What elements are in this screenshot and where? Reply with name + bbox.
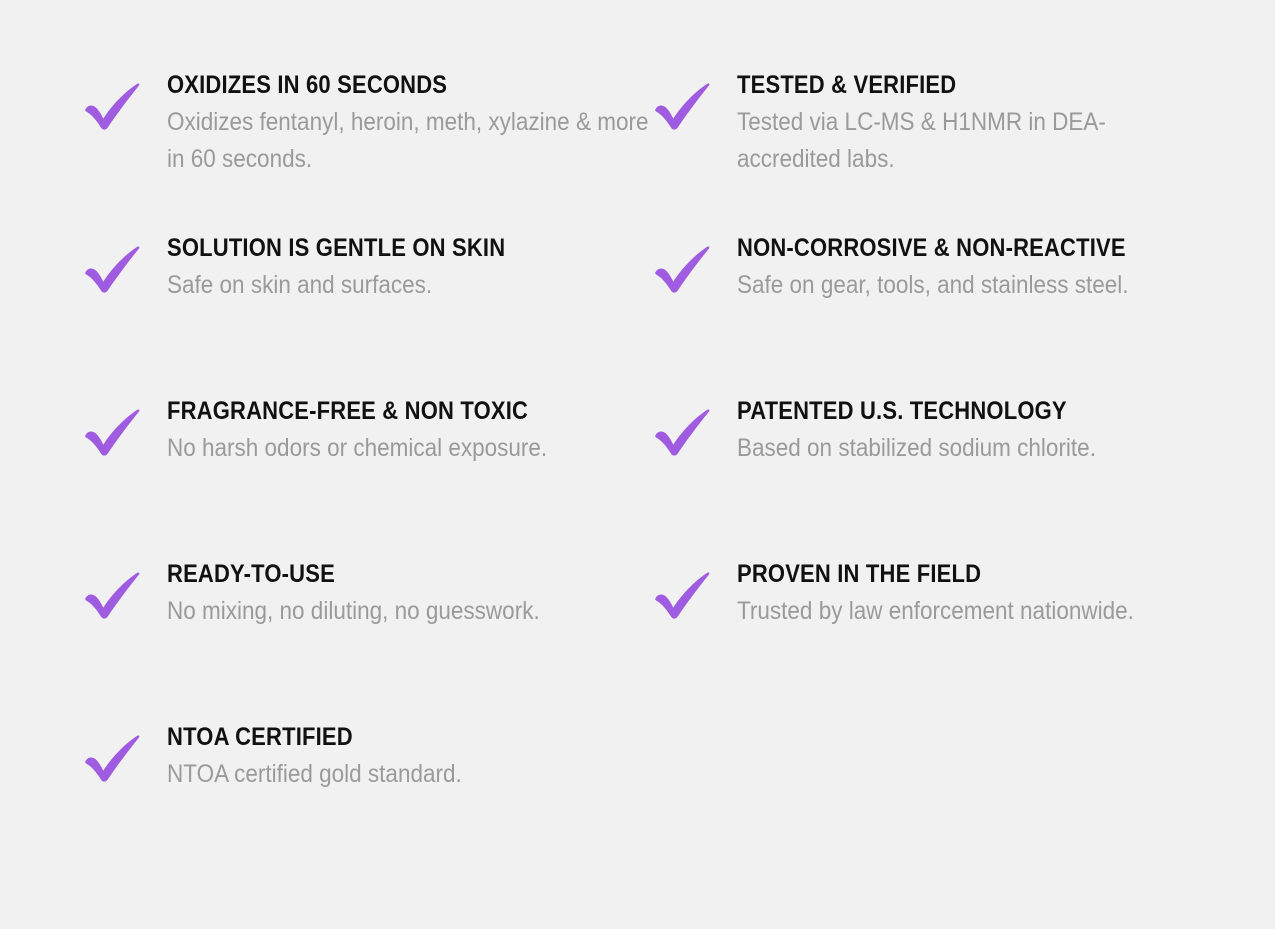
benefits-grid: OXIDIZES IN 60 SECONDS Oxidizes fentanyl…	[0, 0, 1275, 929]
benefit-title: TESTED & VERIFIED	[737, 70, 1144, 100]
benefit-item: SOLUTION IS GENTLE ON SKIN Safe on skin …	[84, 233, 654, 396]
checkmark-icon	[84, 233, 167, 293]
benefit-text: NTOA CERTIFIED NTOA certified gold stand…	[167, 722, 654, 793]
benefit-item: READY-TO-USE No mixing, no diluting, no …	[84, 559, 654, 722]
checkmark-icon	[84, 396, 167, 456]
benefit-item: TESTED & VERIFIED Tested via LC-MS & H1N…	[654, 70, 1199, 233]
benefit-text: TESTED & VERIFIED Tested via LC-MS & H1N…	[737, 70, 1199, 178]
benefit-description: Oxidizes fentanyl, heroin, meth, xylazin…	[167, 104, 654, 178]
benefit-text: PROVEN IN THE FIELD Trusted by law enfor…	[737, 559, 1199, 630]
benefit-item: PATENTED U.S. TECHNOLOGY Based on stabil…	[654, 396, 1199, 559]
benefit-text: FRAGRANCE-FREE & NON TOXIC No harsh odor…	[167, 396, 654, 467]
benefit-title: SOLUTION IS GENTLE ON SKIN	[167, 233, 596, 263]
benefit-item: NON-CORROSIVE & NON-REACTIVE Safe on gea…	[654, 233, 1199, 396]
benefit-item: NTOA CERTIFIED NTOA certified gold stand…	[84, 722, 654, 885]
checkmark-icon	[654, 559, 737, 619]
checkmark-icon	[84, 70, 167, 130]
benefit-item: OXIDIZES IN 60 SECONDS Oxidizes fentanyl…	[84, 70, 654, 233]
benefit-description: NTOA certified gold standard.	[167, 756, 654, 793]
checkmark-icon	[654, 233, 737, 293]
benefit-text: SOLUTION IS GENTLE ON SKIN Safe on skin …	[167, 233, 654, 304]
benefit-description: Safe on gear, tools, and stainless steel…	[737, 267, 1199, 304]
benefit-title: FRAGRANCE-FREE & NON TOXIC	[167, 396, 596, 426]
benefit-text: OXIDIZES IN 60 SECONDS Oxidizes fentanyl…	[167, 70, 654, 178]
benefit-title: NTOA CERTIFIED	[167, 722, 596, 752]
benefit-title: READY-TO-USE	[167, 559, 596, 589]
benefit-item: FRAGRANCE-FREE & NON TOXIC No harsh odor…	[84, 396, 654, 559]
benefit-title: OXIDIZES IN 60 SECONDS	[167, 70, 596, 100]
benefit-description: No mixing, no diluting, no guesswork.	[167, 593, 654, 630]
benefit-item: PROVEN IN THE FIELD Trusted by law enfor…	[654, 559, 1199, 722]
benefit-title: PROVEN IN THE FIELD	[737, 559, 1144, 589]
checkmark-icon	[654, 70, 737, 130]
benefit-description: Trusted by law enforcement nationwide.	[737, 593, 1199, 630]
benefit-description: Based on stabilized sodium chlorite.	[737, 430, 1199, 467]
benefit-text: PATENTED U.S. TECHNOLOGY Based on stabil…	[737, 396, 1199, 467]
checkmark-icon	[84, 559, 167, 619]
checkmark-icon	[84, 722, 167, 782]
benefit-text: READY-TO-USE No mixing, no diluting, no …	[167, 559, 654, 630]
benefit-text: NON-CORROSIVE & NON-REACTIVE Safe on gea…	[737, 233, 1199, 304]
benefit-description: Tested via LC-MS & H1NMR in DEA-accredit…	[737, 104, 1199, 178]
benefit-description: Safe on skin and surfaces.	[167, 267, 654, 304]
benefit-title: NON-CORROSIVE & NON-REACTIVE	[737, 233, 1144, 263]
benefit-description: No harsh odors or chemical exposure.	[167, 430, 654, 467]
benefit-title: PATENTED U.S. TECHNOLOGY	[737, 396, 1144, 426]
checkmark-icon	[654, 396, 737, 456]
